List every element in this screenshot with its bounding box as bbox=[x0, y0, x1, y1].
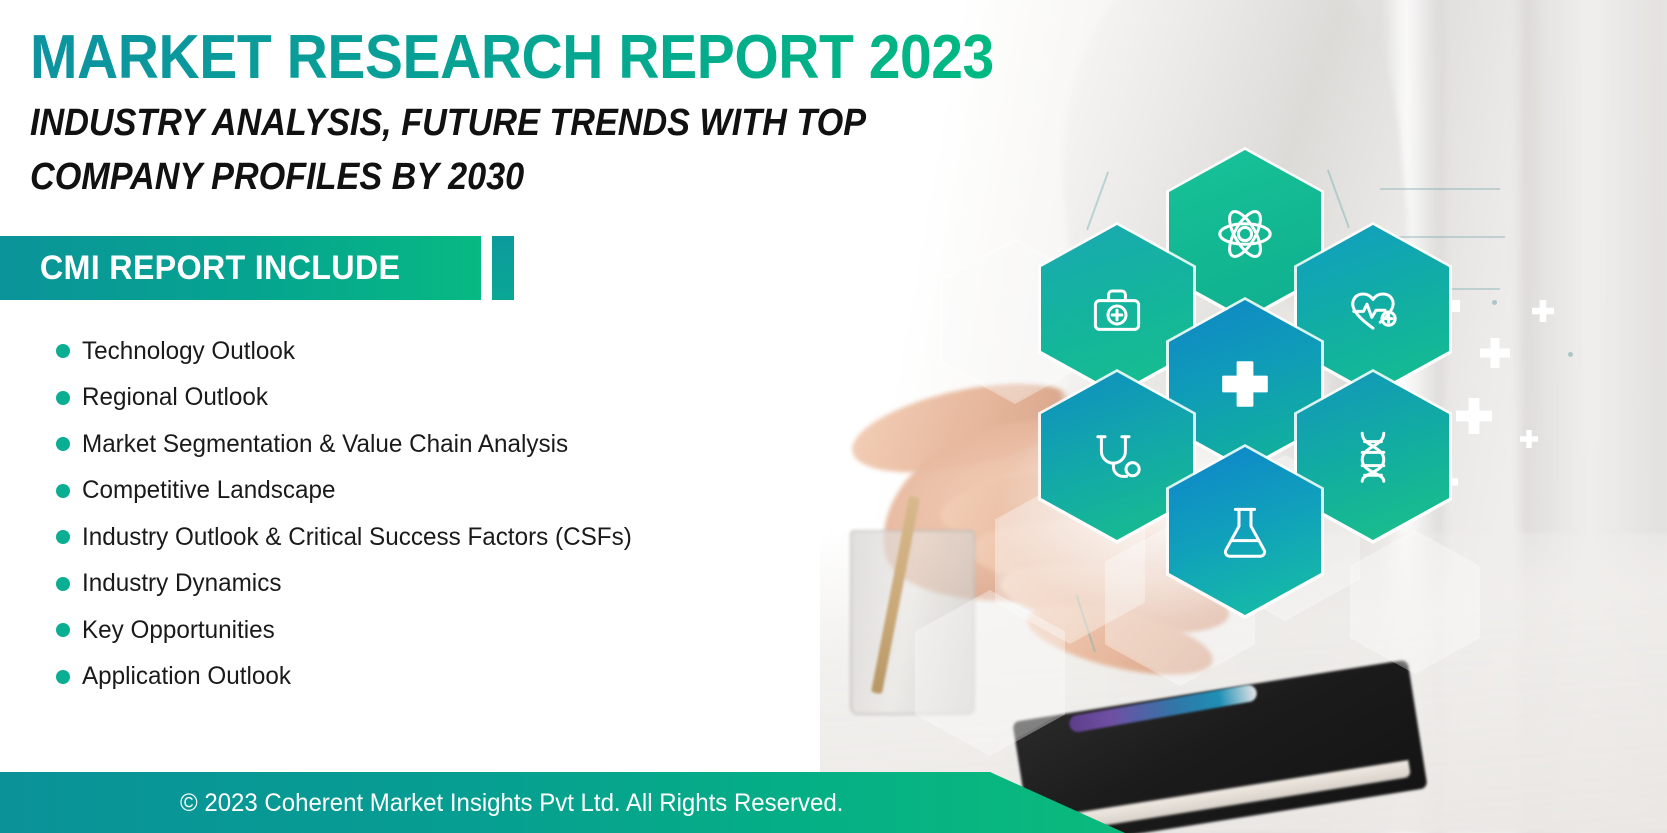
bullet-dot-icon bbox=[56, 623, 70, 637]
bullet-dot-icon bbox=[56, 437, 70, 451]
list-item-label: Industry Dynamics bbox=[82, 569, 281, 598]
list-item: Key Opportunities bbox=[56, 607, 816, 654]
list-item: Technology Outlook bbox=[56, 328, 816, 375]
report-include-label: CMI REPORT INCLUDE bbox=[0, 249, 400, 288]
bullet-dot-icon bbox=[56, 484, 70, 498]
list-item: Market Segmentation & Value Chain Analys… bbox=[56, 421, 816, 468]
flask-icon bbox=[1215, 501, 1275, 561]
page-subtitle: INDUSTRY ANALYSIS, FUTURE TRENDS WITH TO… bbox=[30, 96, 866, 204]
bullet-dot-icon bbox=[56, 344, 70, 358]
tech-dot bbox=[1568, 352, 1573, 357]
report-include-list: Technology Outlook Regional Outlook Mark… bbox=[56, 328, 816, 700]
medical-bag-icon bbox=[1087, 279, 1147, 339]
tech-dot bbox=[1492, 300, 1497, 305]
page-title: MARKET RESEARCH REPORT 2023 bbox=[30, 22, 994, 93]
bullet-dot-icon bbox=[56, 670, 70, 684]
list-item-label: Regional Outlook bbox=[82, 383, 268, 412]
list-item: Competitive Landscape bbox=[56, 468, 816, 515]
list-item-label: Industry Outlook & Critical Success Fact… bbox=[82, 523, 632, 552]
list-item-label: Application Outlook bbox=[82, 662, 291, 691]
atom-icon bbox=[1215, 204, 1275, 264]
list-item: Industry Outlook & Critical Success Fact… bbox=[56, 514, 816, 561]
medical-cross-icon bbox=[1215, 354, 1275, 414]
dna-icon bbox=[1343, 426, 1403, 486]
bullet-dot-icon bbox=[56, 530, 70, 544]
list-item: Regional Outlook bbox=[56, 375, 816, 422]
bullet-dot-icon bbox=[56, 577, 70, 591]
footer-copyright: © 2023 Coherent Market Insights Pvt Ltd.… bbox=[180, 789, 843, 818]
market-research-banner: MARKET RESEARCH REPORT 2023 INDUSTRY ANA… bbox=[0, 0, 1667, 833]
list-item-label: Competitive Landscape bbox=[82, 476, 335, 505]
stethoscope-icon bbox=[1087, 426, 1147, 486]
list-item: Industry Dynamics bbox=[56, 561, 816, 608]
list-item-label: Key Opportunities bbox=[82, 616, 275, 645]
heart-pulse-icon bbox=[1343, 279, 1403, 339]
hero-photo bbox=[820, 0, 1667, 833]
list-item-label: Market Segmentation & Value Chain Analys… bbox=[82, 430, 568, 459]
report-include-accent-tab bbox=[492, 236, 514, 300]
bullet-dot-icon bbox=[56, 391, 70, 405]
list-item-label: Technology Outlook bbox=[82, 337, 295, 366]
list-item: Application Outlook bbox=[56, 654, 816, 701]
report-include-bar: CMI REPORT INCLUDE bbox=[0, 236, 481, 300]
hexagon-icon-cluster bbox=[1035, 150, 1455, 600]
